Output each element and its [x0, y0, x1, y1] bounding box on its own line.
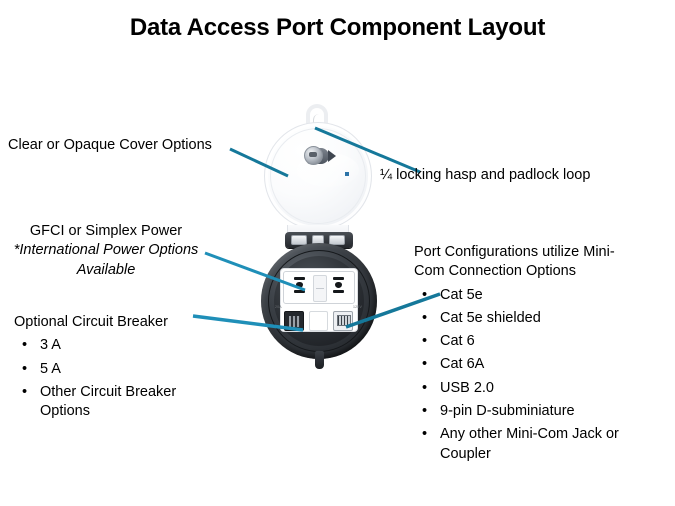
ports-bullet-item: •Cat 6A	[414, 355, 654, 374]
outlet-slot	[333, 277, 344, 280]
ports-bullet-item-label: USB 2.0	[440, 380, 494, 396]
ports-bullet-item: •Cat 6	[414, 332, 654, 351]
callout-power-note-line-2: Available	[2, 261, 210, 280]
bullet-icon: •	[422, 332, 427, 351]
bullet-icon: •	[422, 425, 427, 444]
faceplate-mark-left: 20A	[275, 305, 282, 309]
blank-module	[309, 311, 328, 331]
gfci-duplex-outlet	[283, 271, 355, 304]
faceplate-mark-right: 125V	[353, 305, 362, 309]
ports-bullet-item-label: Cat 5e shielded	[440, 310, 541, 326]
lid-inner-ring	[270, 128, 366, 224]
outlet-slot	[333, 290, 344, 293]
outlet-receptacle	[288, 275, 311, 301]
ports-bullet-item: •Any other Mini-Com Jack or Coupler	[414, 425, 654, 464]
ports-bullet-list: •Cat 5e•Cat 5e shielded•Cat 6•Cat 6A•USB…	[414, 286, 654, 464]
bullet-icon: •	[422, 286, 427, 305]
callout-port-configurations: Port Configurations utilize Mini- Com Co…	[414, 243, 654, 464]
outlet-ground-hole	[335, 282, 342, 288]
cable-strain-relief	[315, 351, 324, 369]
breaker-bullet-item: •5 A	[14, 360, 214, 379]
bullet-icon: •	[22, 383, 27, 402]
data-access-port-illustration: 20A 125V	[243, 100, 433, 400]
callout-hasp-heading: ¼ locking hasp and padlock loop	[380, 166, 660, 185]
outlet-slot	[294, 277, 305, 280]
bullet-icon: •	[422, 355, 427, 374]
callout-power-note-line-1: *International Power Options	[2, 241, 210, 260]
callout-breaker-heading: Optional Circuit Breaker	[14, 313, 214, 332]
ports-bullet-item-label: 9-pin D-subminiature	[440, 403, 575, 419]
breaker-bullet-item-label: Other Circuit Breaker Options	[40, 384, 176, 419]
ports-bullet-item-label: Cat 5e	[440, 287, 483, 303]
bullet-icon: •	[22, 360, 27, 379]
callout-cover-options: Clear or Opaque Cover Options	[8, 136, 244, 155]
port-body: 20A 125V	[261, 243, 377, 359]
ports-bullet-item: •Cat 5e shielded	[414, 309, 654, 328]
locking-hasp-screw-icon	[304, 146, 323, 165]
callout-power-heading: GFCI or Simplex Power	[2, 222, 210, 241]
bullet-icon: •	[422, 402, 427, 421]
bullet-icon: •	[422, 379, 427, 398]
bullet-icon: •	[422, 309, 427, 328]
outlet-receptacle	[327, 275, 350, 301]
breaker-bullet-item: •3 A	[14, 336, 214, 355]
callout-ports-heading-line-2: Com Connection Options	[414, 262, 654, 281]
callout-cover-heading: Clear or Opaque Cover Options	[8, 136, 244, 155]
outlet-slot	[294, 290, 305, 293]
mini-com-jack-row	[283, 311, 355, 331]
callout-locking-hasp: ¼ locking hasp and padlock loop	[380, 166, 660, 185]
outlet-ground-hole	[296, 282, 303, 288]
usb-jack-module	[284, 311, 304, 331]
breaker-bullet-item: •Other Circuit Breaker Options	[14, 383, 214, 422]
breaker-bullet-list: •3 A•5 A•Other Circuit Breaker Options	[14, 336, 214, 421]
ports-bullet-item: •Cat 5e	[414, 286, 654, 305]
callout-circuit-breaker: Optional Circuit Breaker •3 A•5 A•Other …	[14, 313, 214, 421]
lid-indicator-dot	[345, 172, 349, 176]
slide-canvas: Data Access Port Component Layout	[0, 0, 675, 506]
ports-bullet-item-label: Cat 6	[440, 333, 475, 349]
gfci-test-reset-buttons	[313, 275, 327, 302]
ports-bullet-item: •USB 2.0	[414, 379, 654, 398]
rj45-jack-module	[333, 311, 353, 331]
callout-power-options: GFCI or Simplex Power *International Pow…	[2, 222, 210, 280]
ports-bullet-item: •9-pin D-subminiature	[414, 402, 654, 421]
ports-bullet-item-label: Any other Mini-Com Jack or Coupler	[440, 426, 619, 461]
page-title: Data Access Port Component Layout	[0, 14, 675, 42]
breaker-bullet-item-label: 3 A	[40, 337, 61, 353]
ports-bullet-item-label: Cat 6A	[440, 356, 484, 372]
bullet-icon: •	[22, 336, 27, 355]
breaker-bullet-item-label: 5 A	[40, 361, 61, 377]
callout-ports-heading-line-1: Port Configurations utilize Mini-	[414, 243, 654, 262]
